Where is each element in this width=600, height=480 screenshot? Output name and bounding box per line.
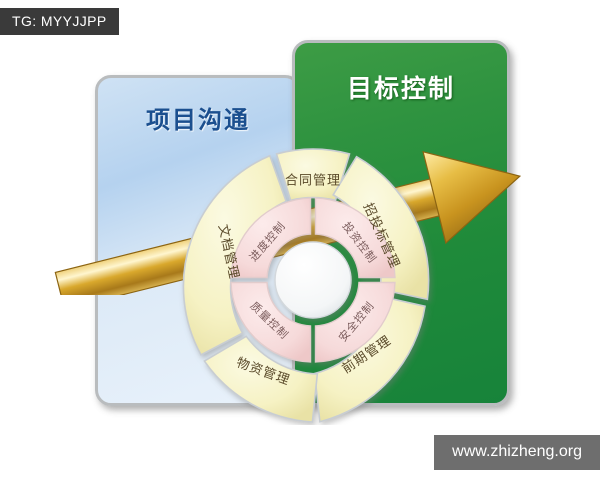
process-wheel: 合同管理 招投标管理 前期管理 物资管理 文档管理 投资控制 安全控制 质量控制… <box>168 135 458 425</box>
wheel-hub <box>275 242 351 318</box>
tg-badge: TG: MYYJJPP <box>0 8 119 35</box>
panel-objective-control-label: 目标控制 <box>295 69 507 105</box>
diagram-canvas: 项目沟通 目标控制 <box>0 0 600 480</box>
outer-label-contract: 合同管理 <box>285 174 341 189</box>
watermark-url: www.zhizheng.org <box>434 435 600 470</box>
panel-communication-label: 项目沟通 <box>98 100 298 135</box>
